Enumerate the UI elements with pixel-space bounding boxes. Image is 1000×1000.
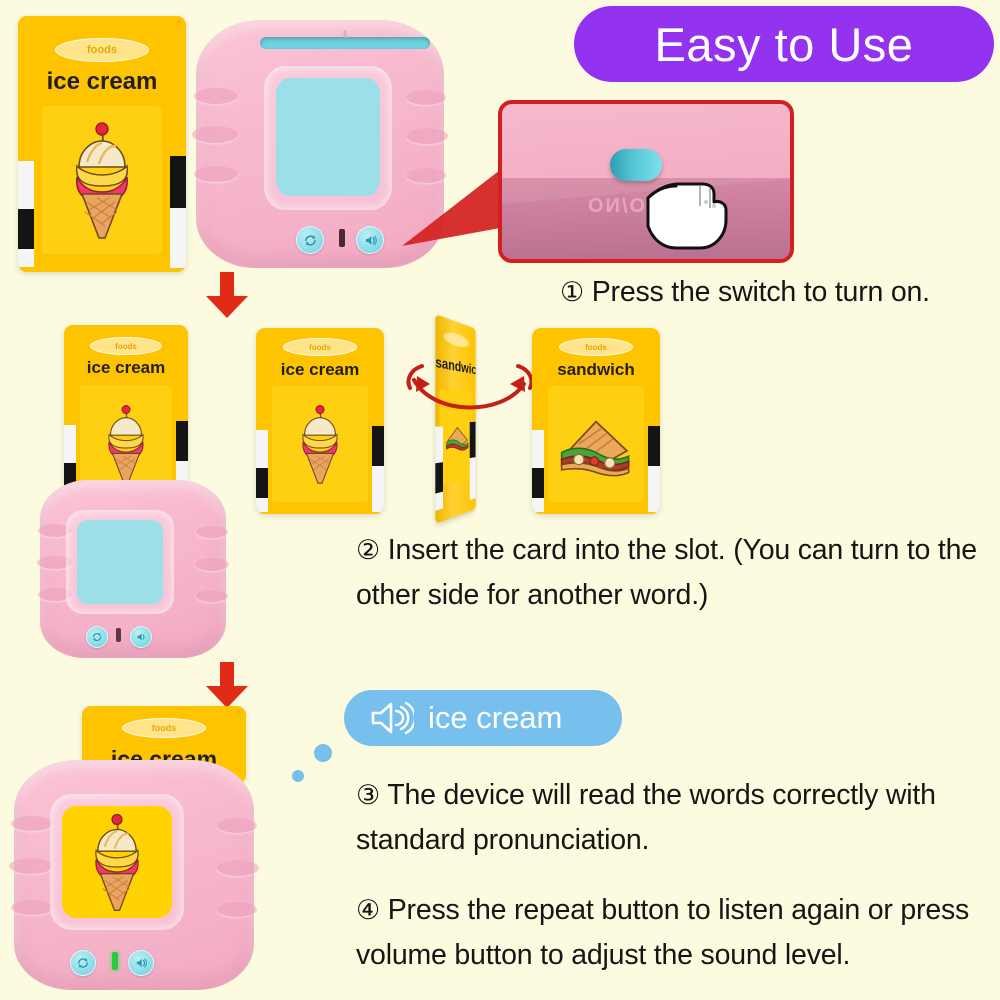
step-1-line-1: Press the switch to turn on. (592, 276, 930, 308)
pointing-hand-icon (640, 162, 750, 254)
card-category-tag: foods (55, 38, 149, 62)
club-sandwich-icon (441, 419, 471, 455)
step-1-text: ① Press the switch to turn on. (560, 270, 990, 315)
step-4-number: ④ (356, 895, 380, 925)
volume-button[interactable] (356, 226, 384, 254)
speech-word: ice cream (428, 700, 562, 736)
easy-to-use-banner: Easy to Use (574, 6, 994, 82)
callout-leader-lines (400, 170, 510, 260)
repeat-icon (76, 956, 90, 970)
down-arrow-2 (198, 662, 256, 710)
step-2-number: ② (356, 535, 380, 565)
repeat-icon (303, 233, 318, 248)
step-3-number: ③ (356, 780, 380, 810)
repeat-button[interactable] (70, 950, 96, 976)
down-arrow-1 (198, 272, 256, 320)
card-corner-mark: 6 (237, 710, 241, 717)
card-word: ice cream (64, 358, 188, 378)
power-led (112, 952, 118, 970)
step-3-text: ③ The device will read the words correct… (356, 773, 996, 863)
step-2-text: ② Insert the card into the slot. (You ca… (356, 528, 986, 618)
infographic-canvas: Easy to Use foods ice cream (0, 0, 1000, 1000)
step-1-number: ① (560, 277, 584, 307)
step-4-line-1: Press the repeat button to listen again … (388, 894, 893, 926)
device-middle (40, 480, 226, 658)
rotate-arrows-icon (400, 358, 540, 424)
card-strip-left (18, 161, 34, 267)
device-screen (77, 520, 163, 604)
device-screen (62, 806, 172, 918)
card-strip-right (648, 426, 660, 512)
card-picture-ice-cream (272, 386, 368, 502)
repeat-button[interactable] (296, 226, 324, 254)
step-3-line-1: The device will read the words correctly (387, 779, 878, 811)
volume-button[interactable] (130, 626, 152, 648)
speech-dot-small (289, 767, 307, 785)
card-strip-right (170, 156, 186, 268)
ice-cream-cone-icon (65, 120, 139, 240)
card-category-tag: foods (559, 338, 633, 356)
card-category-tag: foods (122, 718, 206, 738)
repeat-button[interactable] (86, 626, 108, 648)
card-picture-sandwich (548, 386, 644, 502)
volume-icon (134, 956, 148, 970)
ice-cream-cone-icon (295, 402, 345, 486)
screen-bezel (66, 510, 174, 614)
repeat-icon (91, 631, 103, 643)
card-category-tag: foods (283, 338, 357, 356)
screen-bezel (50, 794, 184, 930)
device-screen (276, 78, 380, 196)
ice-cream-cone-icon (101, 402, 151, 486)
card-picture-ice-cream (42, 106, 162, 254)
card-word: ice cream (256, 360, 384, 380)
card-flip-back-sandwich: foods sandwich (532, 328, 660, 514)
banner-label: Easy to Use (655, 17, 914, 72)
card-strip-right (372, 426, 384, 512)
speech-bubble: ice cream (344, 690, 622, 746)
status-led (116, 628, 121, 642)
switch-zoom-callout: ON/OFF (498, 100, 794, 263)
status-led (339, 229, 345, 247)
ice-cream-cone-icon (86, 812, 148, 912)
device-bottom (14, 760, 254, 990)
step-2-line-1: Insert the card into the slot. (You can … (388, 534, 899, 566)
card-ice-cream-top: foods ice cream 6 (18, 16, 186, 272)
card-word: sandwich (532, 360, 660, 380)
volume-button[interactable] (128, 950, 154, 976)
screen-bezel (264, 66, 392, 210)
speech-dot-large (311, 741, 335, 765)
step-4-text: ④ Press the repeat button to listen agai… (356, 888, 1000, 978)
volume-icon (135, 631, 147, 643)
club-sandwich-icon (553, 409, 639, 479)
card-slot[interactable] (260, 37, 430, 49)
card-flip-front-ice-cream: foods ice cream (256, 328, 384, 514)
card-corner-mark: 6 (177, 20, 181, 27)
card-word: ice cream (18, 68, 186, 96)
card-strip-left (532, 430, 544, 512)
card-category-tag: foods (90, 337, 162, 355)
card-strip-left (256, 430, 268, 512)
volume-icon (363, 233, 378, 248)
speaker-sound-icon (370, 701, 414, 735)
